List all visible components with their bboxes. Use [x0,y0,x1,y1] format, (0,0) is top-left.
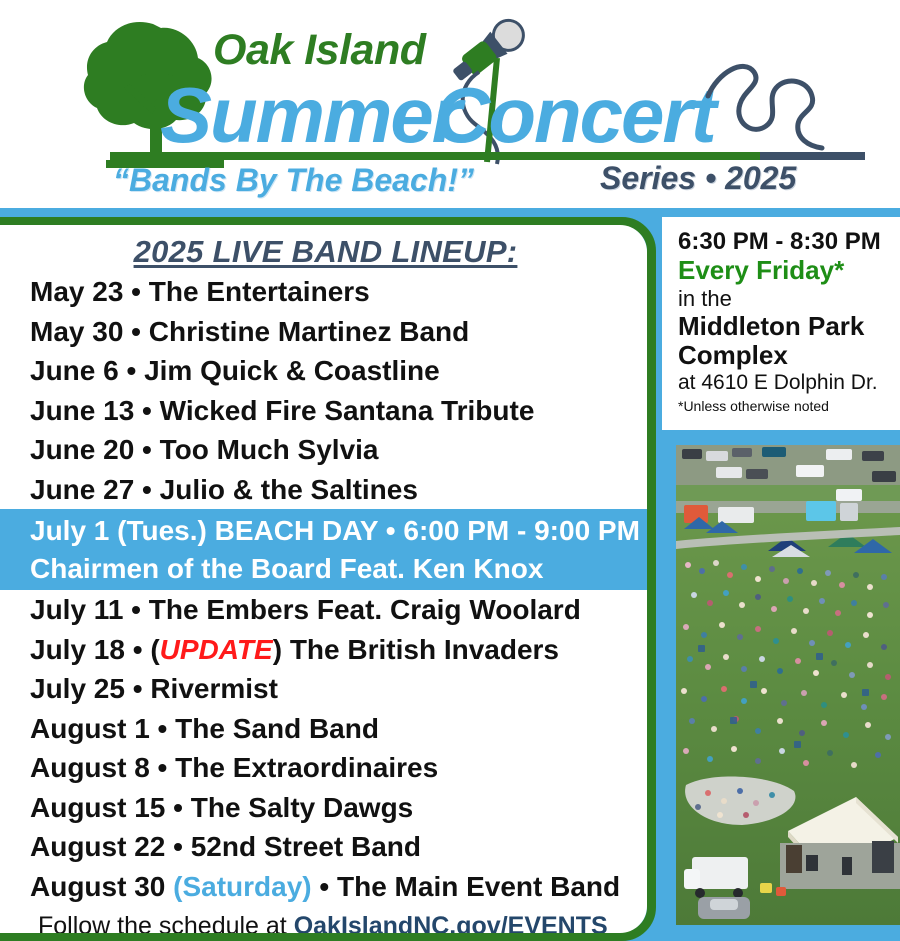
list-item: June 20 • Too Much Sylvia [0,430,647,470]
row-date: June 6 [30,355,119,386]
list-item: August 22 • 52nd Street Band [0,827,647,867]
row-date: August 22 [30,831,165,862]
row-date: June 13 [30,395,134,426]
row-band: Christine Martinez Band [149,316,469,347]
lineup-panel: 2025 LIVE BAND LINEUP: May 23 • The Ente… [0,225,647,933]
logo-oak-island-text: Oak Island [213,26,425,75]
list-item: May 30 • Christine Martinez Band [0,312,647,352]
event-footnote: *Unless otherwise noted [678,396,892,414]
row-sep: • [134,474,159,505]
row-date: June 27 [30,474,134,505]
beach-day-time: 6:00 PM - 9:00 PM [403,515,640,546]
row-band: The Embers Feat. Craig Woolard [149,594,581,625]
concert-poster: Oak Island Summer Concert “Bands By The … [0,0,900,941]
row-sep: • [312,871,337,902]
list-item: July 25 • Rivermist [0,669,647,709]
row-date: July 11 [30,594,123,625]
row-sep: • [123,594,148,625]
row-date: July 18 [30,634,125,665]
row-band: The British Invaders [290,634,559,665]
row-sep: • [134,434,159,465]
event-time: 6:30 PM - 8:30 PM [678,229,892,256]
row-sep: • [123,316,148,347]
row-band: 52nd Street Band [191,831,421,862]
row-band: The Main Event Band [337,871,620,902]
right-column: 6:30 PM - 8:30 PM Every Friday* in the M… [662,217,900,941]
header-rule-slate [760,152,865,160]
logo-tagline: “Bands By The Beach!” [113,162,474,199]
event-connector: in the [678,286,892,312]
row-date: August 30 [30,871,165,902]
beach-day-band: Chairmen of the Board Feat. Ken Knox [30,553,543,584]
event-venue-line2: Complex [678,341,892,370]
saturday-note: (Saturday) [165,871,311,902]
list-item: August 1 • The Sand Band [0,709,647,749]
list-item: August 8 • The Extraordinaires [0,748,647,788]
poster-header: Oak Island Summer Concert “Bands By The … [0,0,900,208]
list-item-update: July 18 • (UPDATE) The British Invaders [0,630,647,670]
row-band: Too Much Sylvia [160,434,379,465]
row-sep: • [165,792,190,823]
row-sep: • [150,713,175,744]
event-info-box: 6:30 PM - 8:30 PM Every Friday* in the M… [662,217,900,430]
row-band: Jim Quick & Coastline [144,355,440,386]
list-item: June 6 • Jim Quick & Coastline [0,351,647,391]
list-item: July 11 • The Embers Feat. Craig Woolard [0,590,647,630]
lineup-title: 2025 LIVE BAND LINEUP: [0,234,647,270]
header-rule-green [110,152,765,160]
row-band: The Sand Band [175,713,379,744]
event-address: at 4610 E Dolphin Dr. [678,370,892,396]
events-link[interactable]: OakIslandNC.gov/EVENTS [294,912,608,933]
aerial-concert-illustration [676,445,900,925]
logo-concert-text: Concert [434,76,715,154]
schedule-footer-text: Follow the schedule at [38,912,294,933]
row-date: June 20 [30,434,134,465]
row-band: Rivermist [150,673,278,704]
row-sep: • [125,634,150,665]
wave-icon [700,50,830,160]
update-badge: UPDATE [160,634,273,665]
row-sep: • [165,831,190,862]
row-band: The Salty Dawgs [191,792,414,823]
row-sep: • [119,355,144,386]
row-band: The Entertainers [149,276,370,307]
row-date: July 25 [30,673,125,704]
beach-day-title: July 1 (Tues.) BEACH DAY [30,515,378,546]
row-sep: • [134,395,159,426]
row-sep: • [150,752,175,783]
list-item: August 15 • The Salty Dawgs [0,788,647,828]
logo-summer-text: Summer [160,76,460,154]
schedule-footer: Follow the schedule at OakIslandNC.gov/E… [0,906,647,933]
update-paren-open: ( [150,634,159,665]
row-band: Julio & the Saltines [160,474,418,505]
event-frequency: Every Friday* [678,256,892,286]
list-item-final: August 30 (Saturday) • The Main Event Ba… [0,867,647,907]
row-date: May 30 [30,316,123,347]
row-date: August 8 [30,752,150,783]
list-item: May 23 • The Entertainers [0,272,647,312]
row-band: The Extraordinaires [175,752,438,783]
row-sep: • [123,276,148,307]
list-item: June 13 • Wicked Fire Santana Tribute [0,391,647,431]
beach-day-row-line2: Chairmen of the Board Feat. Ken Knox [0,550,647,591]
row-date: August 1 [30,713,150,744]
lineup-list: May 23 • The Entertainers May 30 • Chris… [0,272,647,906]
row-sep: • [378,515,403,546]
update-paren-close: ) [273,634,290,665]
event-venue-line1: Middleton Park [678,312,892,341]
row-band: Wicked Fire Santana Tribute [160,395,535,426]
concert-crowd-photo [676,445,900,925]
list-item: June 27 • Julio & the Saltines [0,470,647,510]
row-date: May 23 [30,276,123,307]
row-sep: • [125,673,150,704]
logo-series-year: Series • 2025 [600,160,796,197]
row-date: August 15 [30,792,165,823]
beach-day-row-line1: July 1 (Tues.) BEACH DAY • 6:00 PM - 9:0… [0,509,647,550]
